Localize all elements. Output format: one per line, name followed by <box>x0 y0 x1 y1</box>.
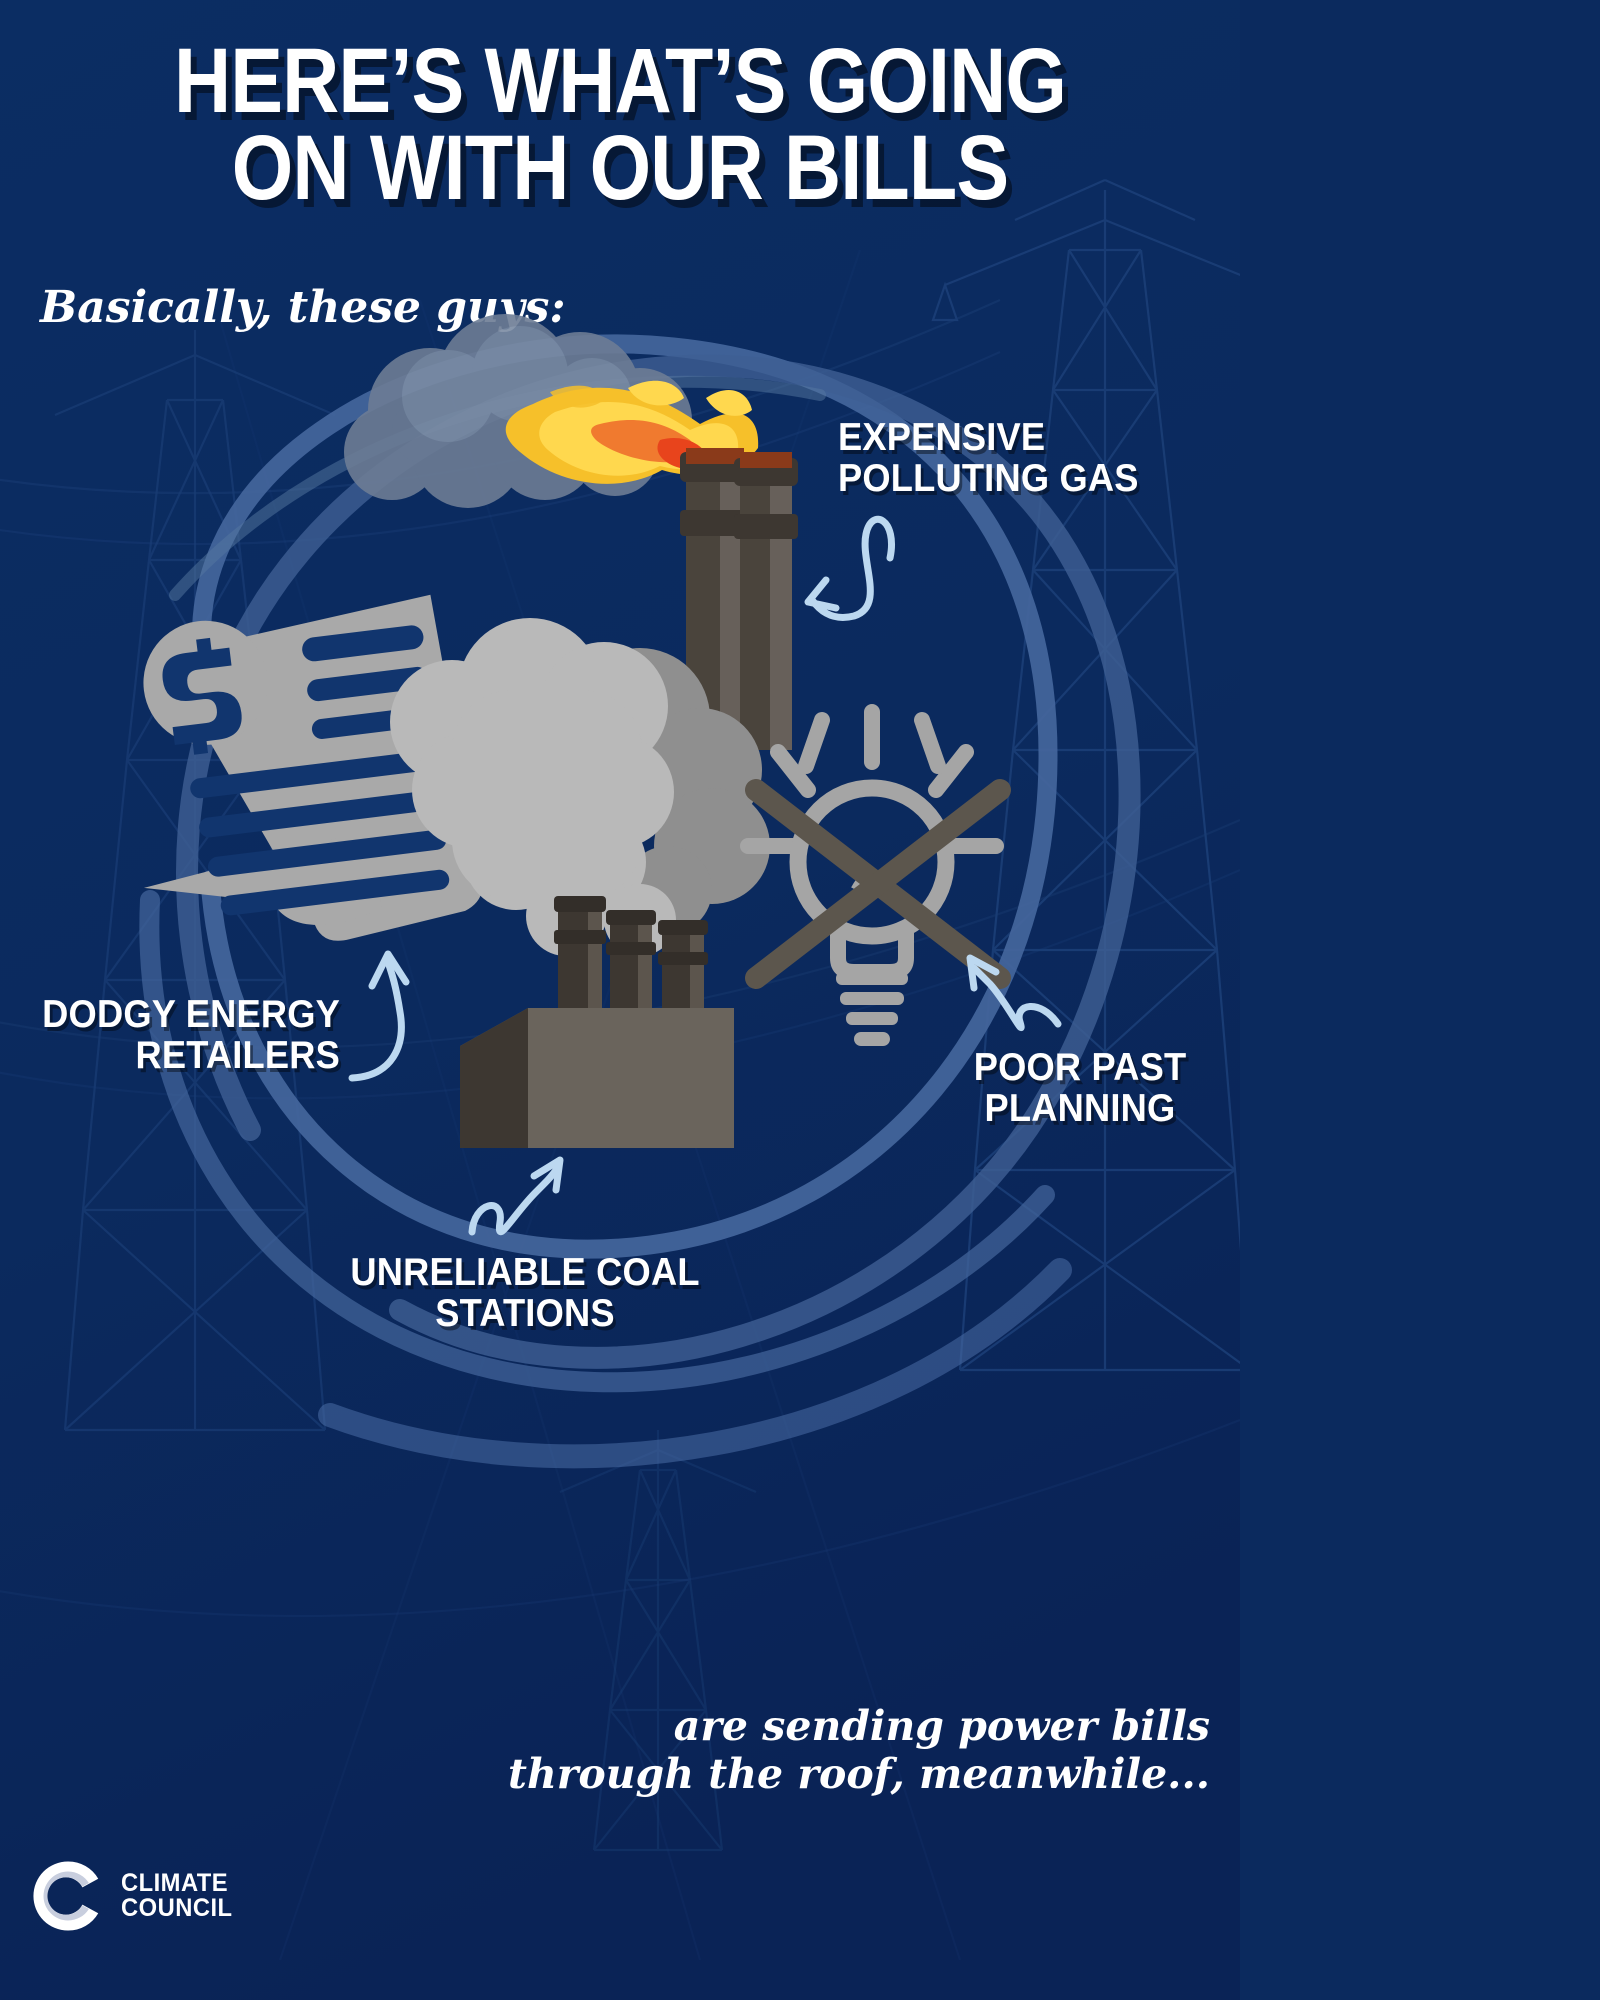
crossed-out-lightbulb-icon <box>748 712 1000 1046</box>
outro-text: are sending power bills through the roof… <box>490 1702 1210 1799</box>
climate-council-logo[interactable]: CLIMATE COUNCIL <box>32 1860 238 1932</box>
callout-label-dodgy-energy-retailers: DODGY ENERGY RETAILERS <box>24 995 340 1077</box>
curved-arrow-gas-icon <box>808 519 892 617</box>
coal-power-station-icon <box>460 896 734 1148</box>
curved-arrow-coal-icon <box>472 1160 560 1232</box>
callout-label-expensive-polluting-gas: EXPENSIVE POLLUTING GAS <box>838 418 1139 500</box>
climate-council-c-icon <box>32 1860 104 1932</box>
callout-label-poor-past-planning: POOR PAST PLANNING <box>964 1048 1197 1130</box>
curved-arrow-retailers-icon <box>352 954 406 1078</box>
climate-council-wordmark: CLIMATE COUNCIL <box>121 1871 233 1922</box>
callout-label-unreliable-coal-stations: UNRELIABLE COAL STATIONS <box>344 1253 707 1335</box>
curved-arrow-planning-icon <box>970 958 1058 1028</box>
infographic-canvas: HERE’S WHAT’S GOING ON WITH OUR BILLS Ba… <box>0 0 1240 2000</box>
